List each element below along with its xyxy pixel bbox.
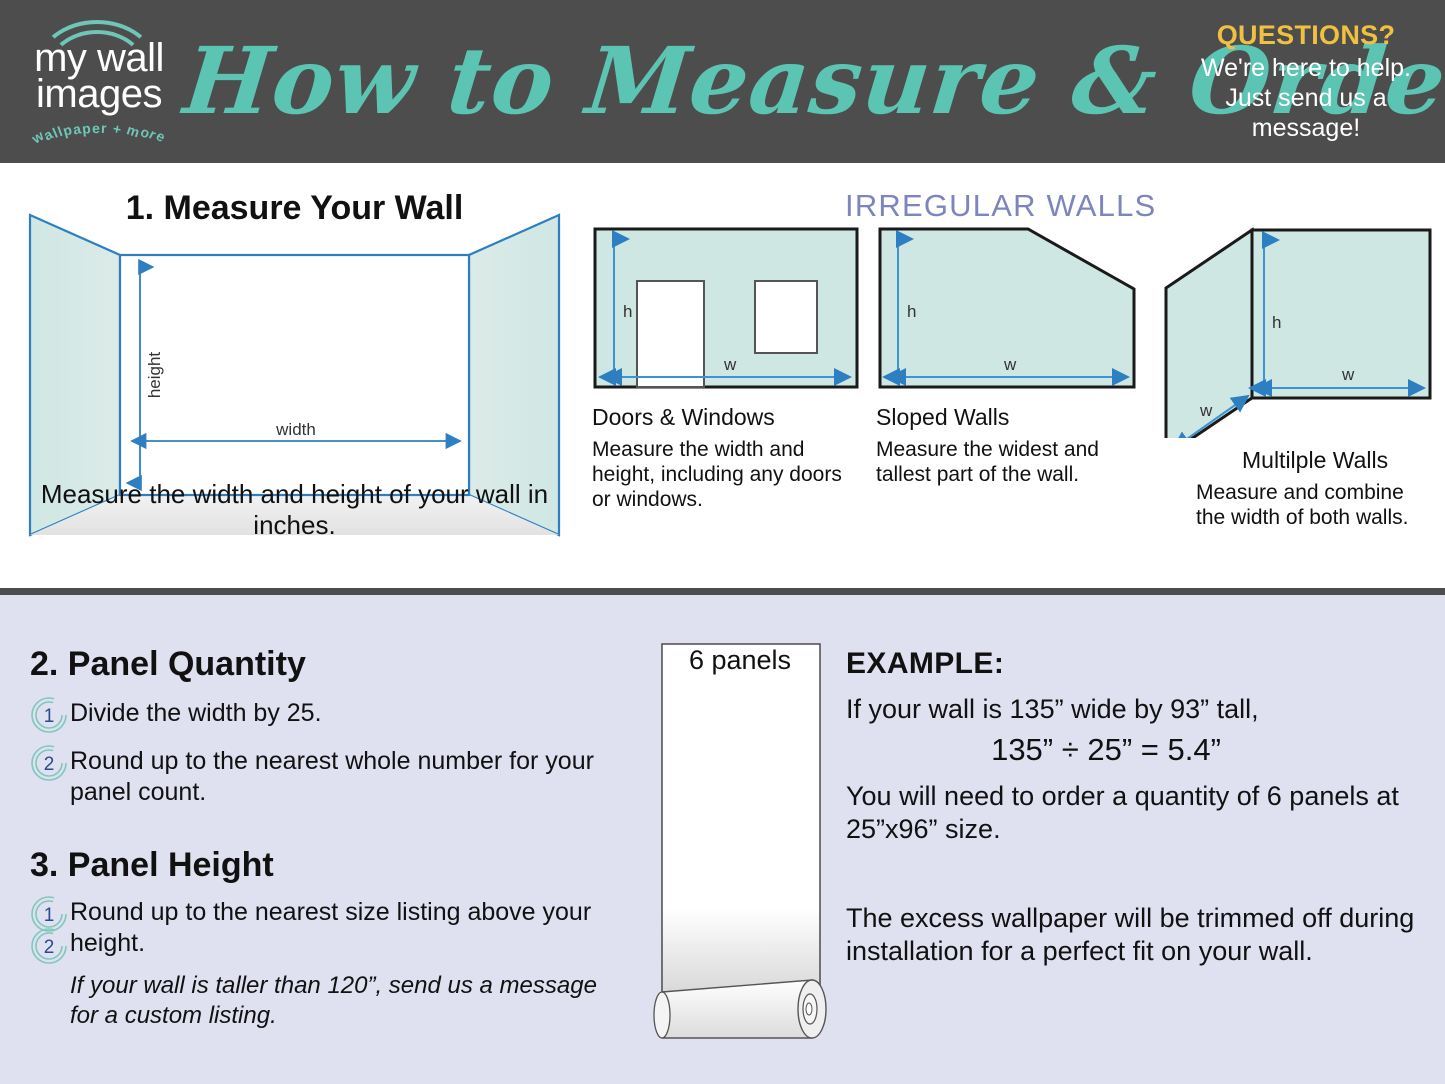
irregular-desc-0: Measure the width and height, including …: [592, 437, 864, 512]
irregular-name-0: Doors & Windows: [592, 404, 864, 431]
example-spacer: [846, 846, 1426, 890]
roll-panel-count-label: 6 panels: [640, 645, 840, 676]
example-line-3: The excess wallpaper will be trimmed off…: [846, 902, 1426, 968]
step2-item-2: 2 Round up to the nearest whole number f…: [30, 746, 610, 808]
example-title: EXAMPLE:: [846, 647, 1426, 681]
example-line-1: If your wall is 135” wide by 93” tall,: [846, 693, 1426, 726]
multi-w-label: w: [1341, 365, 1355, 384]
logo-line-1: my wall: [14, 40, 184, 76]
multi-h-label: h: [1272, 313, 1281, 332]
svg-text:1: 1: [44, 706, 55, 727]
sloped-wall-diagram: h w: [876, 225, 1138, 395]
doors-w-label: w: [723, 355, 737, 374]
step2-text-2: Round up to the nearest whole number for…: [70, 746, 610, 808]
svg-text:2: 2: [44, 937, 55, 958]
measure-wall-title: 1. Measure Your Wall: [12, 189, 577, 228]
measure-section: 1. Measure Your Wall height width Measur…: [0, 163, 1445, 590]
header-bar: my wall images wallpaper + more How to M…: [0, 0, 1445, 163]
brand-logo: my wall images wallpaper + more: [14, 12, 184, 152]
sloped-h-label: h: [907, 302, 916, 321]
sloped-w-label: w: [1003, 355, 1017, 374]
example-line-2: You will need to order a quantity of 6 p…: [846, 780, 1426, 846]
logo-line-2: images: [14, 76, 184, 112]
step3-note: If your wall is taller than 120”, send u…: [70, 971, 610, 1031]
example-math: 135” ÷ 25” = 5.4”: [846, 732, 1426, 768]
questions-body: We're here to help. Just send us a messa…: [1181, 53, 1431, 143]
step3-text-1: Round up to the nearest size listing abo…: [70, 897, 610, 959]
doors-windows-diagram: h w: [592, 225, 860, 395]
irregular-walls-title: IRREGULAR WALLS: [845, 188, 1175, 224]
step-number-badge: 2: [30, 929, 70, 963]
logo-wordmark: my wall images: [14, 40, 184, 112]
irregular-name-1: Sloped Walls: [876, 404, 1138, 431]
irregular-desc-2: Measure and combine the width of both wa…: [1196, 480, 1432, 530]
doors-h-label: h: [623, 302, 632, 321]
step3-heading: 3. Panel Height: [30, 846, 610, 885]
section-divider: [0, 588, 1445, 595]
step2-heading: 2. Panel Quantity: [30, 645, 610, 684]
svg-text:2: 2: [44, 754, 55, 775]
svg-text:1: 1: [44, 905, 55, 926]
multi-w2-label: w: [1199, 401, 1213, 420]
multiple-walls-diagram: h w w: [1152, 218, 1440, 438]
questions-heading: QUESTIONS?: [1181, 20, 1431, 51]
irregular-col-sloped: h w Sloped Walls Measure the widest and …: [876, 225, 1138, 487]
measure-wall-caption: Measure the width and height of your wal…: [12, 479, 577, 541]
panel-section: 2. Panel Quantity 1 Divide the width by …: [0, 595, 1445, 1084]
step2-text-1: Divide the width by 25.: [70, 698, 322, 729]
measure-wall-card: 1. Measure Your Wall height width Measur…: [12, 183, 577, 573]
irregular-col-multiple: h w w Multilple Walls Measure and combin…: [1152, 218, 1432, 530]
infographic-page: my wall images wallpaper + more How to M…: [0, 0, 1445, 1084]
step-number-badge: 2: [30, 746, 70, 780]
step-number-badge: 1: [30, 897, 70, 931]
irregular-desc-1: Measure the widest and tallest part of t…: [876, 437, 1138, 487]
step3-item-1: 1 Round up to the nearest size listing a…: [30, 897, 610, 959]
page-title: How to Measure & Order: [177, 6, 1178, 156]
questions-block: QUESTIONS? We're here to help. Just send…: [1181, 20, 1431, 143]
steps-block: 2. Panel Quantity 1 Divide the width by …: [30, 645, 610, 1031]
example-block: EXAMPLE: If your wall is 135” wide by 93…: [846, 647, 1426, 968]
wallpaper-roll-illustration: [640, 640, 850, 1060]
irregular-name-2: Multilple Walls: [1242, 447, 1432, 474]
step-number-badge: 1: [30, 698, 70, 732]
step2-item-1: 1 Divide the width by 25.: [30, 698, 610, 732]
irregular-col-doors-windows: h w Doors & Windows Measure the width an…: [592, 225, 864, 512]
logo-tagline: wallpaper + more: [14, 120, 184, 136]
